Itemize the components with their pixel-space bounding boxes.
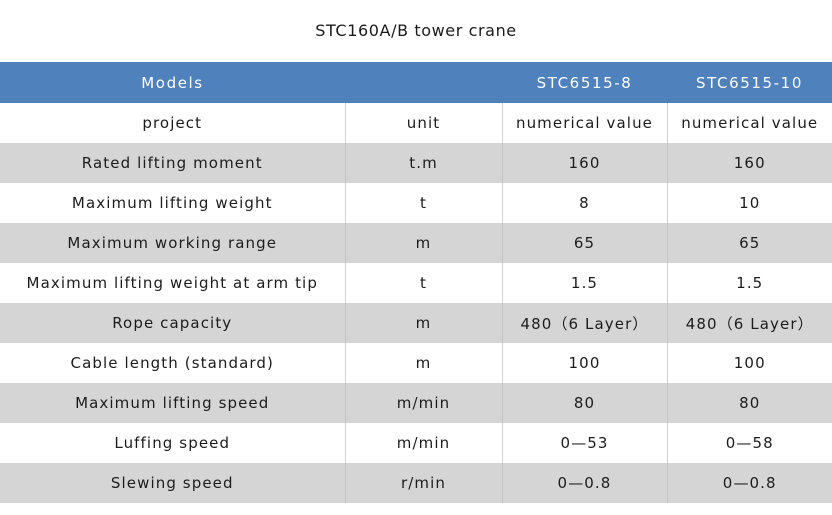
table-subheader-row: project unit numerical value numerical v…	[0, 103, 832, 143]
table-row: Maximum lifting speed m/min 80 80	[0, 383, 832, 423]
cell-unit: t	[345, 263, 502, 303]
table-row: Maximum lifting weight at arm tip t 1.5 …	[0, 263, 832, 303]
cell-project: Maximum lifting weight	[0, 183, 345, 223]
spec-table: Models STC6515-8 STC6515-10 project unit…	[0, 62, 832, 503]
table-row: Luffing speed m/min 0—53 0—58	[0, 423, 832, 463]
header-cell-blank	[345, 62, 502, 103]
cell-value-2: 10	[667, 183, 832, 223]
cell-value-2: 100	[667, 343, 832, 383]
cell-unit: m	[345, 303, 502, 343]
cell-value-1: 80	[502, 383, 667, 423]
table-row: Maximum working range m 65 65	[0, 223, 832, 263]
cell-value-1: 1.5	[502, 263, 667, 303]
cell-project: Rope capacity	[0, 303, 345, 343]
spec-table-body: Models STC6515-8 STC6515-10 project unit…	[0, 62, 832, 503]
header-cell-model-1: STC6515-8	[502, 62, 667, 103]
subheader-cell-value-2: numerical value	[667, 103, 832, 143]
cell-unit: m/min	[345, 423, 502, 463]
cell-value-2: 0—0.8	[667, 463, 832, 503]
header-cell-models: Models	[0, 62, 345, 103]
cell-unit: t.m	[345, 143, 502, 183]
cell-unit: r/min	[345, 463, 502, 503]
cell-project: Maximum working range	[0, 223, 345, 263]
cell-unit: m	[345, 343, 502, 383]
page-title: STC160A/B tower crane	[0, 0, 832, 41]
subheader-cell-unit: unit	[345, 103, 502, 143]
cell-value-1: 480（6 Layer）	[502, 303, 667, 343]
cell-project: Rated lifting moment	[0, 143, 345, 183]
cell-unit: m/min	[345, 383, 502, 423]
cell-project: Maximum lifting speed	[0, 383, 345, 423]
cell-project: Luffing speed	[0, 423, 345, 463]
cell-value-2: 0—58	[667, 423, 832, 463]
table-row: Cable length (standard) m 100 100	[0, 343, 832, 383]
table-header-row: Models STC6515-8 STC6515-10	[0, 62, 832, 103]
document-page: STC160A/B tower crane Models STC6515-8 S…	[0, 0, 832, 515]
cell-value-1: 0—0.8	[502, 463, 667, 503]
cell-project: Slewing speed	[0, 463, 345, 503]
table-row: Rated lifting moment t.m 160 160	[0, 143, 832, 183]
subheader-cell-project: project	[0, 103, 345, 143]
cell-value-2: 1.5	[667, 263, 832, 303]
header-cell-model-2: STC6515-10	[667, 62, 832, 103]
cell-value-1: 160	[502, 143, 667, 183]
cell-value-1: 65	[502, 223, 667, 263]
cell-value-2: 65	[667, 223, 832, 263]
cell-unit: m	[345, 223, 502, 263]
cell-value-2: 80	[667, 383, 832, 423]
subheader-cell-value-1: numerical value	[502, 103, 667, 143]
cell-value-1: 0—53	[502, 423, 667, 463]
cell-unit: t	[345, 183, 502, 223]
cell-value-1: 8	[502, 183, 667, 223]
cell-value-2: 480（6 Layer）	[667, 303, 832, 343]
cell-project: Maximum lifting weight at arm tip	[0, 263, 345, 303]
cell-value-2: 160	[667, 143, 832, 183]
cell-value-1: 100	[502, 343, 667, 383]
table-row: Maximum lifting weight t 8 10	[0, 183, 832, 223]
table-row: Rope capacity m 480（6 Layer） 480（6 Layer…	[0, 303, 832, 343]
cell-project: Cable length (standard)	[0, 343, 345, 383]
table-row: Slewing speed r/min 0—0.8 0—0.8	[0, 463, 832, 503]
